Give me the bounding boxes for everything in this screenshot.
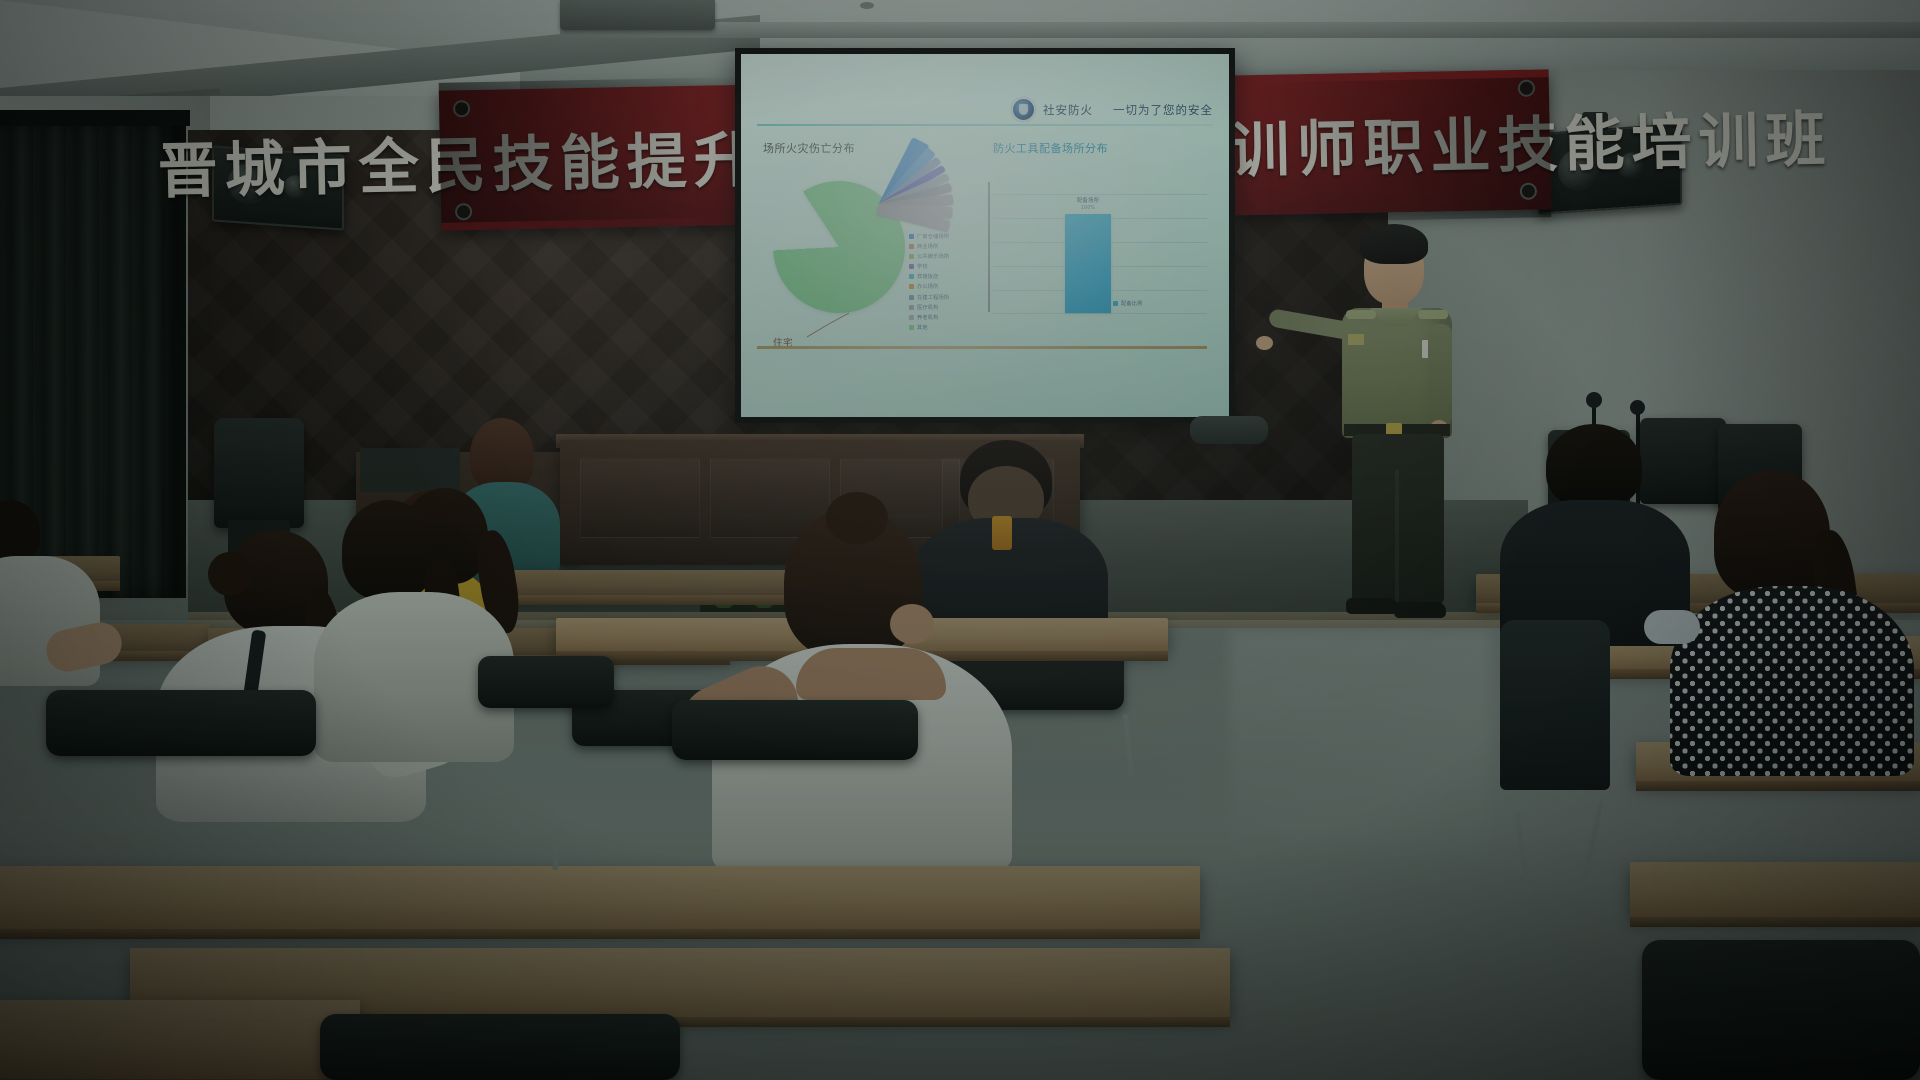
bar-legend: 配备比例 [1113, 300, 1143, 307]
legend-item: 宾馆饭店 [909, 273, 949, 280]
desk-foreground [1630, 862, 1920, 918]
legend-label: 宾馆饭店 [917, 273, 939, 280]
backpack [1500, 620, 1610, 790]
pie-legend: 厂房仓储场所 商业场所 公共娱乐场所 学校 宾馆饭店 办公场所 在建工程场所 医… [909, 233, 949, 331]
chair [46, 690, 316, 756]
bar-value-label: 配备场所 100% [1057, 196, 1119, 211]
instructor-shoe [1394, 602, 1446, 618]
microphone-head-icon [1586, 392, 1602, 408]
instructor-leg-seam [1395, 470, 1399, 602]
slide-footer-rule [757, 346, 1207, 349]
ear-and-cheek [890, 604, 934, 644]
equipment-bag [1190, 416, 1268, 444]
bar-gridline [993, 194, 1207, 195]
legend-item: 养老机构 [909, 314, 949, 321]
legend-label: 其他 [917, 324, 928, 331]
hair-bun [826, 492, 888, 544]
legend-swatch [909, 295, 914, 300]
pie-chart-title: 场所火灾伤亡分布 [763, 140, 855, 156]
bar-column [1065, 214, 1111, 313]
ceiling-smoke-detector-icon [860, 2, 874, 9]
legend-label: 在建工程场所 [917, 294, 949, 301]
chair [214, 418, 304, 528]
legend-label: 学校 [917, 263, 928, 270]
photo-scene: 晋城市全民技能提升工程消防安全培训师职业技能培训班 社安防火 一切为了您的安全 … [0, 0, 1920, 1080]
microphone-head-icon [1630, 400, 1645, 415]
legend-swatch [909, 234, 914, 239]
legend-item: 学校 [909, 263, 949, 270]
legend-label: 养老机构 [917, 314, 939, 321]
legend-swatch [909, 325, 914, 330]
bar-chart-title: 防火工具配备场所分布 [993, 140, 1108, 156]
chair [320, 1014, 680, 1080]
legend-label: 配备比例 [1121, 300, 1143, 307]
legend-swatch [909, 274, 914, 279]
monitor [360, 448, 460, 492]
desk-foreground [0, 1000, 360, 1080]
instructor-epaulet [1346, 310, 1376, 319]
hair [342, 500, 436, 600]
instructor-shoulder-patch [1348, 334, 1364, 345]
slide-header: 社安防火 一切为了您的安全 [741, 98, 1229, 121]
legend-item: 在建工程场所 [909, 294, 949, 301]
hair [1714, 470, 1830, 598]
legend-label: 办公场所 [917, 283, 939, 290]
legend-swatch [909, 284, 914, 289]
ceiling-projector [560, 0, 715, 30]
legend-label: 厂房仓储场所 [917, 233, 949, 240]
torso [1670, 586, 1914, 776]
legend-label: 商业场所 [917, 243, 939, 250]
legend-item: 医疗机构 [909, 304, 949, 311]
hair [470, 418, 534, 492]
collar [1644, 610, 1700, 644]
legend-item: 其他 [909, 324, 949, 331]
chair [672, 700, 918, 760]
desk-foreground [0, 866, 1200, 930]
hair-bun [208, 552, 252, 596]
slide-tagline: 一切为了您的安全 [1113, 102, 1213, 118]
bar-value-text: 100% [1057, 205, 1119, 211]
instructor-left-arm [1428, 324, 1452, 428]
bar-category-label: 配备场所 [1057, 196, 1119, 204]
pie-chart: 住宅 厂房仓储场所 商业场所 公共娱乐场所 学校 宾馆饭店 办公场所 在建工程场… [759, 159, 974, 359]
legend-label: 公共娱乐场所 [917, 253, 949, 260]
projection-screen: 社安防火 一切为了您的安全 场所火灾伤亡分布 防火工具配备场所分布 [741, 54, 1229, 417]
water-bottle [992, 516, 1012, 550]
chair [1642, 940, 1920, 1080]
legend-swatch [1113, 301, 1118, 306]
instructor [1290, 218, 1530, 688]
legend-label: 医疗机构 [917, 304, 939, 311]
legend-swatch [909, 244, 914, 249]
instructor-hand [1256, 336, 1273, 350]
podium-panel [580, 458, 700, 538]
pie-callout-leader [805, 309, 851, 339]
shield-logo-icon [1012, 98, 1035, 121]
legend-swatch [909, 305, 914, 310]
legend-swatch [909, 315, 914, 320]
legend-item: 厂房仓储场所 [909, 233, 949, 240]
ceiling-beam-secondary [560, 22, 1920, 38]
instructor-hair [1360, 224, 1428, 264]
chair [1640, 418, 1726, 504]
instructor-shoe [1346, 598, 1398, 614]
slide-brand: 社安防火 [1043, 102, 1093, 118]
instructor-epaulet [1418, 310, 1448, 319]
bar-chart-axis [988, 182, 990, 312]
legend-swatch [909, 254, 914, 259]
chair [478, 656, 614, 708]
legend-item: 公共娱乐场所 [909, 253, 949, 260]
neck-and-shoulders [796, 648, 946, 700]
bar-gridline [993, 313, 1207, 314]
hair [1546, 424, 1642, 508]
slide-header-rule [757, 124, 1213, 126]
legend-item: 办公场所 [909, 283, 949, 290]
legend-swatch [909, 264, 914, 269]
legend-item: 商业场所 [909, 243, 949, 250]
